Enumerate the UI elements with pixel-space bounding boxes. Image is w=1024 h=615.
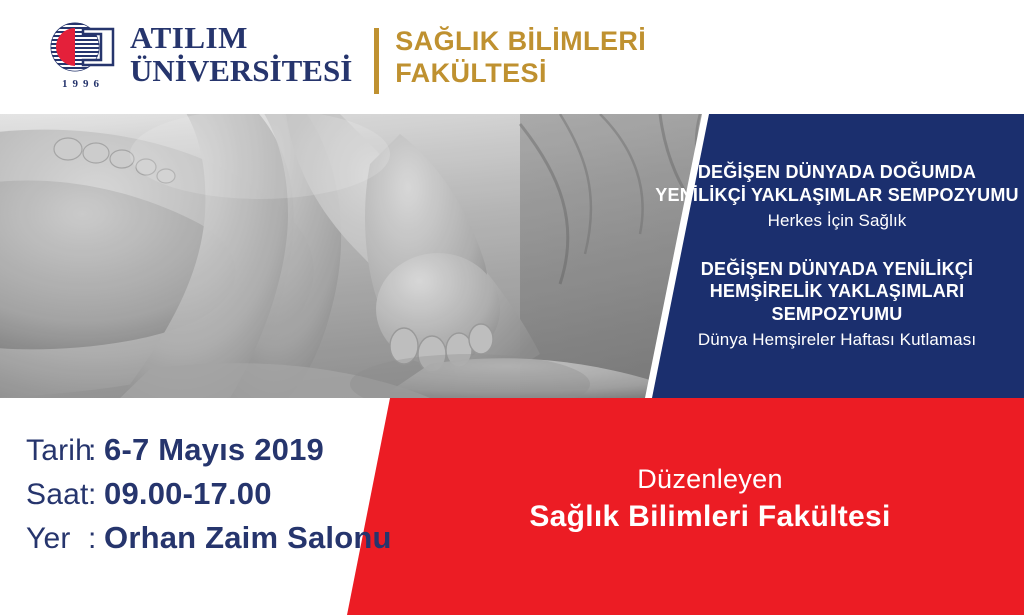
date-separator: :	[88, 434, 104, 468]
emblem-year-label: 1996	[50, 78, 116, 90]
university-name-line2: ÜNİVERSİTESİ	[130, 55, 352, 88]
venue-value: Orhan Zaim Salonu	[104, 520, 392, 556]
faculty-name-line1: SAĞLIK BİLİMLERİ	[395, 26, 646, 58]
event-detail-row-time: Saat : 09.00-17.00	[26, 476, 392, 512]
faculty-name-line2: FAKÜLTESİ	[395, 58, 646, 90]
symposium-2-subtitle: Dünya Hemşireler Haftası Kutlaması	[650, 329, 1024, 351]
symposium-1-title-line1: DEĞİŞEN DÜNYADA DOĞUMDA	[650, 161, 1024, 184]
time-label: Saat	[26, 478, 88, 512]
symposium-1-title-line2: YENİLİKÇİ YAKLAŞIMLAR SEMPOZYUMU	[650, 184, 1024, 207]
symposium-1-subtitle: Herkes İçin Sağlık	[650, 210, 1024, 232]
venue-label: Yer	[26, 522, 88, 556]
time-separator: :	[88, 478, 104, 512]
organizer-label: Düzenleyen	[430, 464, 990, 495]
venue-separator: :	[88, 522, 104, 556]
symposium-titles: DEĞİŞEN DÜNYADA DOĞUMDA YENİLİKÇİ YAKLAŞ…	[650, 114, 1024, 398]
symposium-2-title-line1: DEĞİŞEN DÜNYADA YENİLİKÇİ	[650, 258, 1024, 281]
university-name-line1: ATILIM	[130, 22, 352, 55]
symposium-block-2: DEĞİŞEN DÜNYADA YENİLİKÇİ HEMŞİRELİK YAK…	[650, 258, 1024, 351]
emblem-mark-icon	[48, 20, 118, 74]
event-detail-row-venue: Yer : Orhan Zaim Salonu	[26, 520, 392, 556]
time-value: 09.00-17.00	[104, 476, 272, 512]
poster-footer: Tarih : 6-7 Mayıs 2019 Saat : 09.00-17.0…	[0, 398, 1024, 615]
organizer-name: Sağlık Bilimleri Fakültesi	[430, 500, 990, 534]
event-poster: 1996 ATILIM ÜNİVERSİTESİ SAĞLIK BİLİMLER…	[0, 0, 1024, 615]
event-detail-row-date: Tarih : 6-7 Mayıs 2019	[26, 432, 392, 468]
logo-lockup: 1996 ATILIM ÜNİVERSİTESİ SAĞLIK BİLİMLER…	[48, 14, 646, 100]
symposium-2-title-line2: HEMŞİRELİK YAKLAŞIMLARI SEMPOZYUMU	[650, 280, 1024, 325]
faculty-name: SAĞLIK BİLİMLERİ FAKÜLTESİ	[395, 26, 646, 90]
atilim-university-emblem: 1996	[48, 14, 120, 100]
gold-vertical-divider	[374, 28, 379, 94]
date-label: Tarih	[26, 434, 88, 468]
university-name: ATILIM ÜNİVERSİTESİ	[130, 14, 352, 87]
date-value: 6-7 Mayıs 2019	[104, 432, 324, 468]
symposium-block-1: DEĞİŞEN DÜNYADA DOĞUMDA YENİLİKÇİ YAKLAŞ…	[650, 161, 1024, 231]
event-details: Tarih : 6-7 Mayıs 2019 Saat : 09.00-17.0…	[26, 432, 392, 564]
organizer-block: Düzenleyen Sağlık Bilimleri Fakültesi	[430, 464, 990, 534]
poster-header: 1996 ATILIM ÜNİVERSİTESİ SAĞLIK BİLİMLER…	[0, 0, 1024, 114]
